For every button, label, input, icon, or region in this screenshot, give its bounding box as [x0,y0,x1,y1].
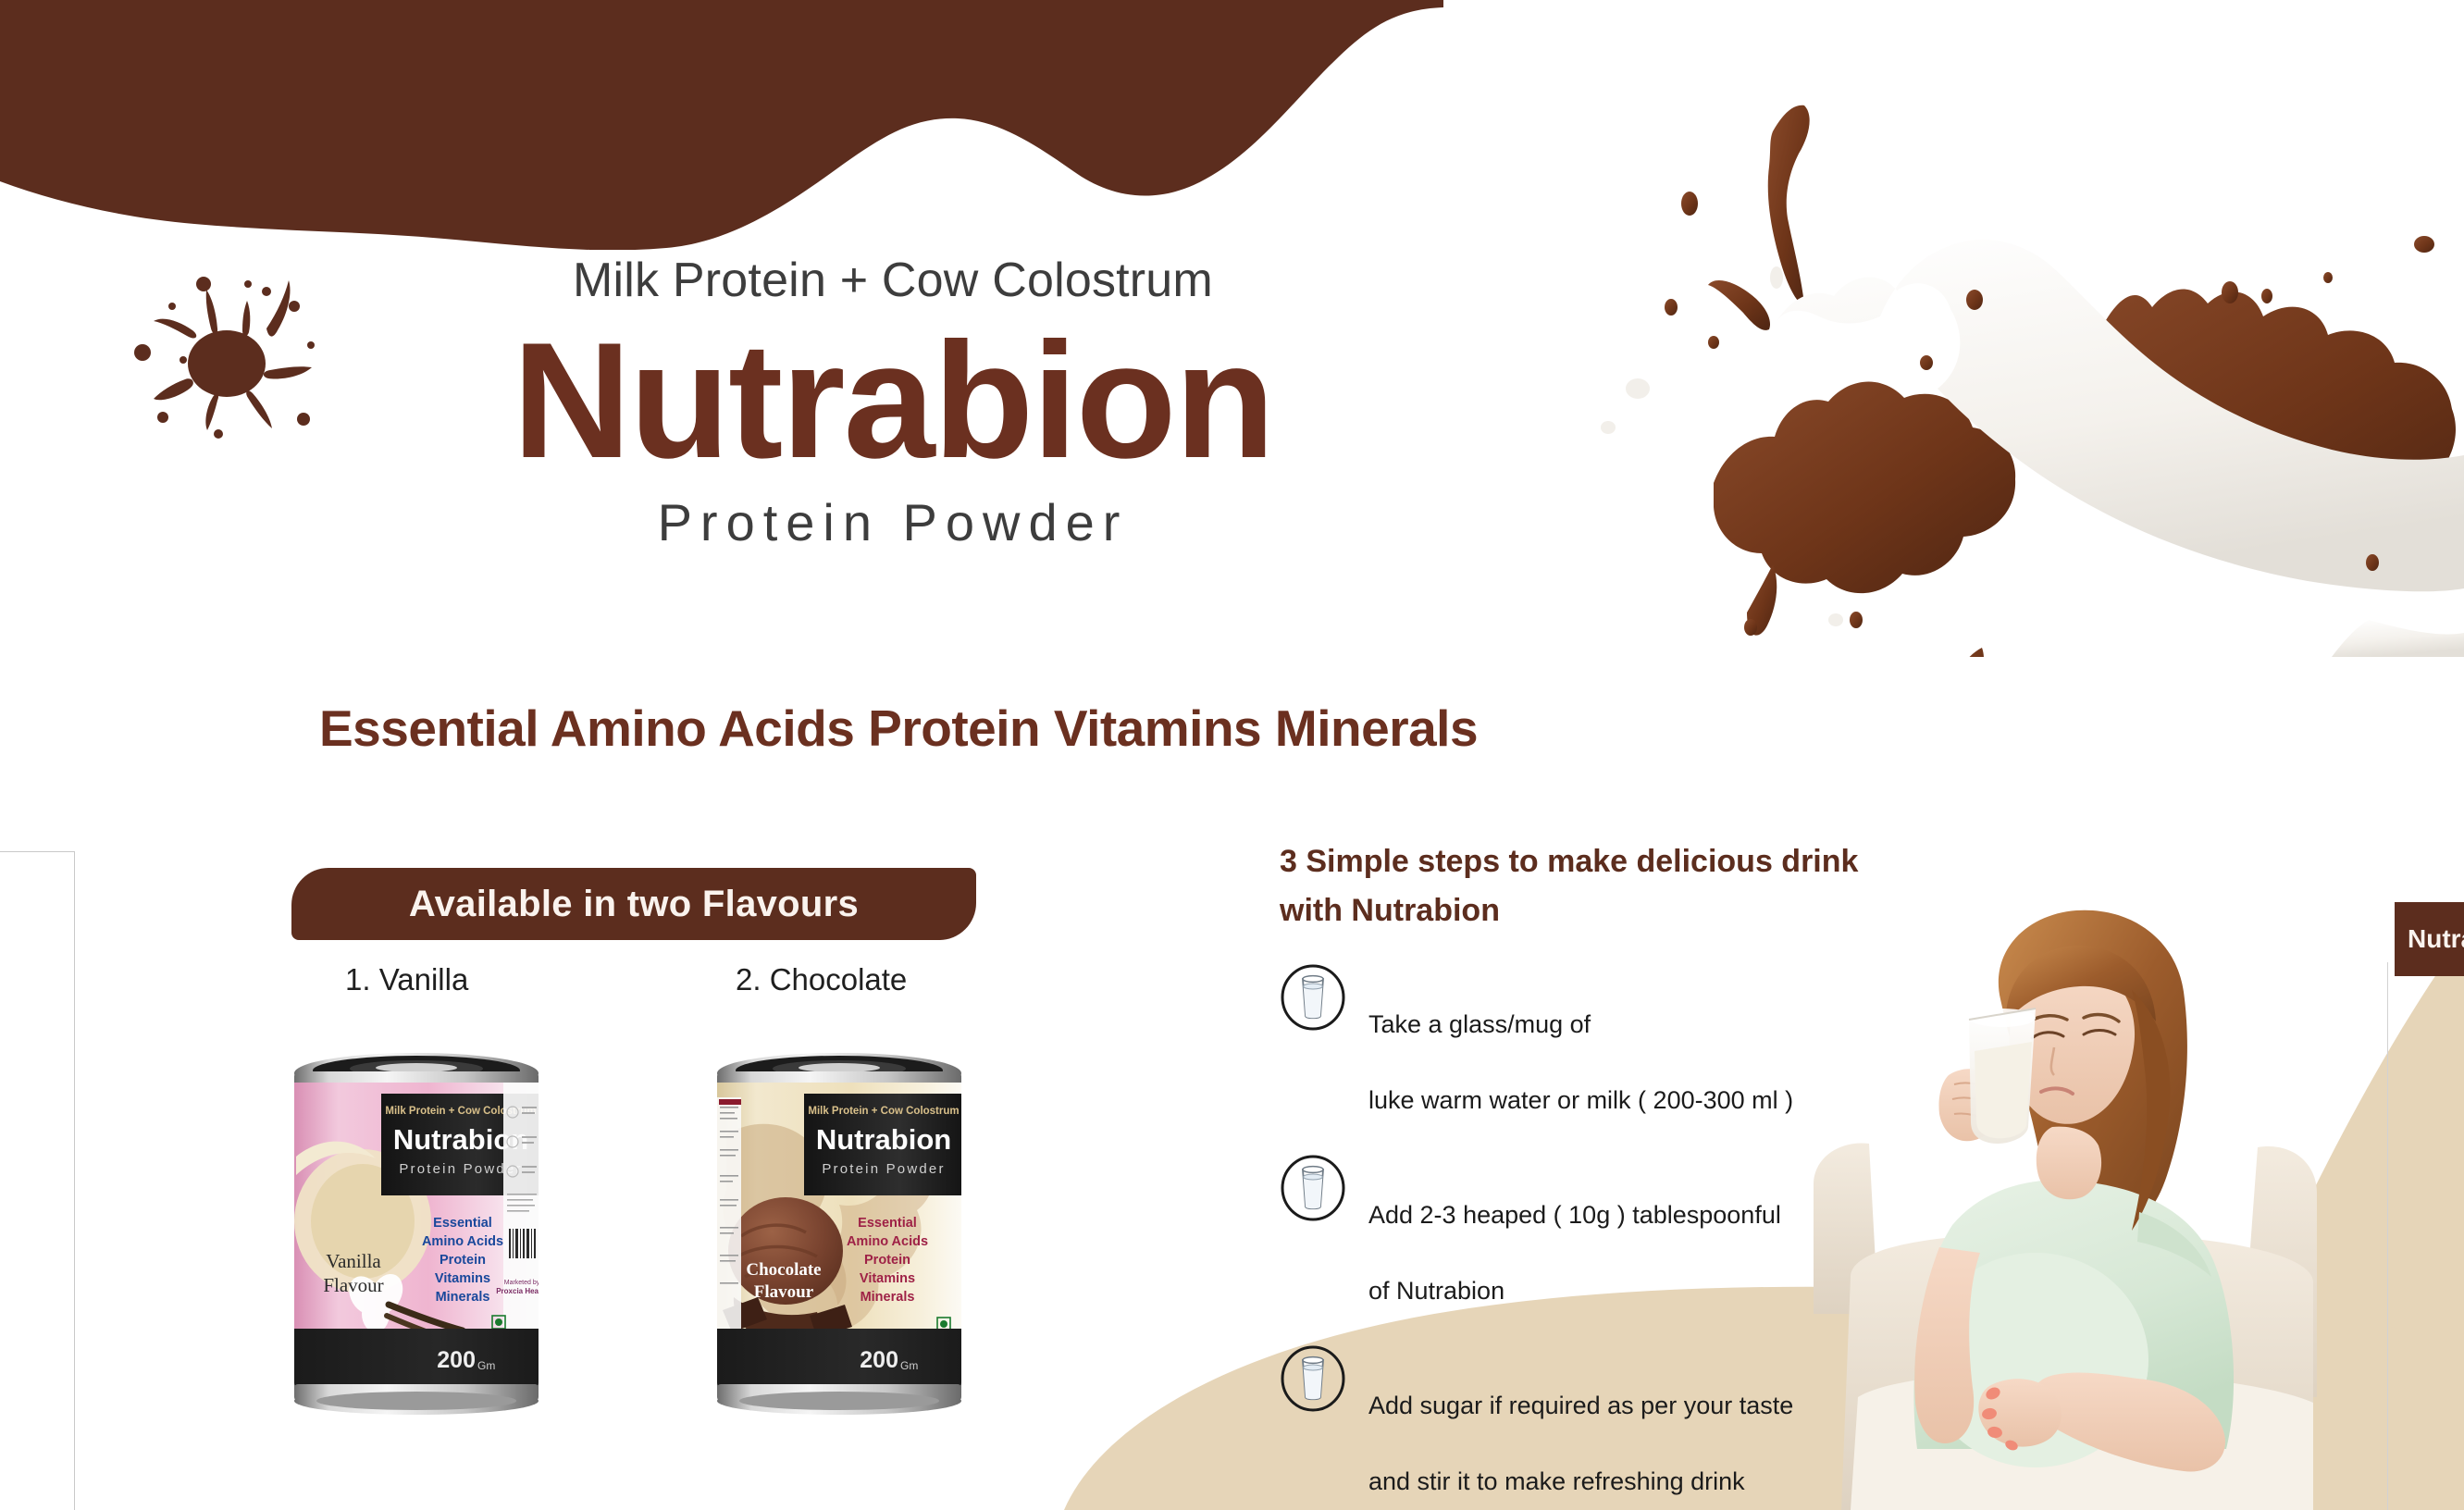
step-row: Add sugar if required as per your taste … [1280,1345,1927,1501]
poster-canvas: Milk Protein + Cow Colostrum Nutrabion P… [0,0,2464,1510]
svg-text:Marketed by: Marketed by [504,1280,540,1286]
page-edge-top-rule [0,851,75,852]
can-brand-chocolate: Nutrabion [816,1123,951,1156]
can-benefit-vanilla-2: Protein [440,1253,486,1268]
can-weight-vanilla: 200 [437,1347,476,1373]
glass-of-milk-icon [1280,964,1346,1031]
step-text-line1: Take a glass/mug of [1368,1010,1591,1038]
page-edge-left-rule [74,851,75,1510]
step-text-line2: luke warm water or milk ( 200-300 ml ) [1368,1086,1793,1114]
glass-of-milk-icon [1280,1345,1346,1412]
can-flavour-name-vanilla: Vanilla [326,1250,381,1272]
steps-heading-line2: with Nutrabion [1280,886,1872,935]
can-benefit-chocolate-0: Essential [858,1216,917,1231]
headline-block: Milk Protein + Cow Colostrum Nutrabion P… [278,254,1508,552]
can-benefit-chocolate-3: Vitamins [860,1271,915,1286]
can-flavour-word-vanilla: Flavour [323,1274,383,1296]
step-text-line2: and stir it to make refreshing drink [1368,1467,1745,1495]
can-kicker-chocolate: Milk Protein + Cow Colostrum [808,1106,959,1117]
can-benefit-vanilla-3: Vitamins [435,1271,490,1286]
side-brand-tag-label: Nutra [2408,924,2464,954]
flavour-label-chocolate: 2. Chocolate [736,962,907,997]
step-text-line1: Add sugar if required as per your taste [1368,1392,1793,1419]
flavours-banner: Available in two Flavours [291,868,976,940]
step-text: Take a glass/mug of luke warm water or m… [1368,964,1793,1120]
step-text-line2: of Nutrabion [1368,1277,1504,1305]
brand-subtitle: Protein Powder [278,492,1508,552]
can-benefit-chocolate-1: Amino Acids [847,1234,928,1249]
brand-name: Nutrabion [278,316,1508,485]
svg-text:Proxcia Health: Proxcia Health [496,1287,548,1295]
product-can-chocolate[interactable]: Milk Protein + Cow Colostrum Nutrabion P… [700,1046,978,1416]
can-benefit-chocolate-4: Minerals [861,1290,915,1305]
step-text: Add sugar if required as per your taste … [1368,1345,1793,1501]
can-weight-unit-chocolate: Gm [900,1359,918,1372]
step-row: Take a glass/mug of luke warm water or m… [1280,964,1927,1120]
can-weight-chocolate: 200 [860,1347,898,1373]
brown-wave-shape [0,0,1443,250]
brand-kicker: Milk Protein + Cow Colostrum [278,254,1508,307]
can-benefit-vanilla-4: Minerals [436,1290,490,1305]
flavour-label-vanilla: 1. Vanilla [345,962,468,997]
can-benefit-chocolate-2: Protein [864,1253,910,1268]
steps-heading-line1: 3 Simple steps to make delicious drink [1280,837,1872,886]
glass-of-milk-icon [1280,1155,1346,1221]
step-text-line1: Add 2-3 heaped ( 10g ) tablespoonful [1368,1201,1781,1229]
can-benefit-vanilla-1: Amino Acids [422,1234,503,1249]
flavour-labels: 1. Vanilla 2. Chocolate [291,962,976,1009]
can-flavour-name-chocolate: Chocolate [746,1260,821,1280]
can-weight-unit-vanilla: Gm [477,1359,495,1372]
page-edge-right-rule [2387,962,2388,1510]
step-row: Add 2-3 heaped ( 10g ) tablespoonful of … [1280,1155,1927,1310]
brand-tagline: Essential Amino Acids Protein Vitamins M… [319,699,1478,758]
can-flavour-word-chocolate: Flavour [754,1282,814,1302]
step-text: Add 2-3 heaped ( 10g ) tablespoonful of … [1368,1155,1781,1310]
side-brand-tag: Nutra [2395,902,2464,976]
chocolate-milk-splash-image [1499,65,2464,657]
product-can-vanilla[interactable]: Milk Protein + Cow Colostrum Nutrabion P… [278,1046,555,1416]
steps-heading: 3 Simple steps to make delicious drink w… [1280,837,1872,934]
can-subtitle-chocolate: Protein Powder [822,1161,945,1177]
flavours-banner-label: Available in two Flavours [409,884,859,925]
can-benefit-vanilla-0: Essential [433,1216,492,1231]
steps-list: Take a glass/mug of luke warm water or m… [1280,964,1927,1510]
